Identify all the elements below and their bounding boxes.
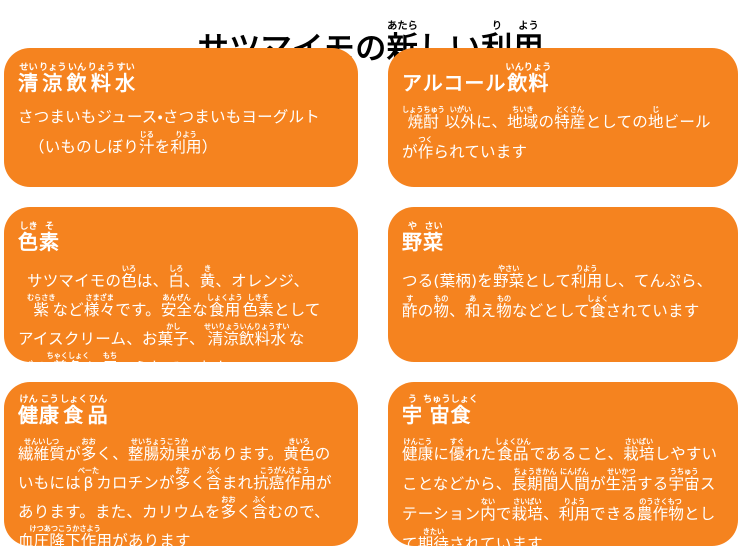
card-body-line: （いものしぼり汁じるを利用りよう）	[18, 130, 348, 160]
card-body-line: どの着色ちゃくしょくに用もちいられています	[18, 351, 348, 362]
card-body-line: テーション内ないで栽培さいばい、利用りようできる農作物のうさくもつとし	[402, 497, 728, 527]
card-body: 焼酎しょうちゅう以外いがいに、地域ちいきの特産とくさんとしての地じビールが作つく…	[402, 105, 728, 165]
card-body-line: が作つくられています	[402, 135, 728, 165]
card-heading: アルコール飲料いんりょう	[402, 62, 728, 96]
card-kenkou-shokuhin: 健けん康こう食しょく品ひん 繊維質せんいしつが多おおく、整腸効果せいちょうこうか…	[4, 382, 358, 546]
card-body-line: 繊維質せんいしつが多おおく、整腸効果せいちょうこうかがあります。黄色きいろの	[18, 437, 348, 466]
card-body: 健康けんこうに優すぐれた食品しょくひんであること、栽培さいばいしやすいことなどか…	[402, 437, 728, 546]
card-grid: 清せい涼りょう飲いん料りょう水すい さつまいもジュース・さつまいもヨーグルト（い…	[4, 48, 738, 546]
card-body: 繊維質せんいしつが多おおく、整腸効果せいちょうこうかがあります。黄色きいろのいも…	[18, 437, 348, 546]
card-body: つる(葉柄)を野菜やさいとして利用りようし、てんぷら、酢すの物もの、和あえ物もの…	[402, 264, 728, 324]
card-alcohol-inryou: アルコール飲料いんりょう 焼酎しょうちゅう以外いがいに、地域ちいきの特産とくさん…	[388, 48, 738, 187]
card-heading: 清せい涼りょう飲いん料りょう水すい	[18, 62, 348, 96]
card-shikiso: 色しき素そ サツマイモの色いろは、白しろ、黄き、オレンジ、紫むらさきなど様々さま…	[4, 207, 358, 362]
card-body-line: つる(葉柄)を野菜やさいとして利用りようし、てんぷら、	[402, 264, 728, 294]
card-body-line: ことなどから、長期間ちょうきかん人間にんげんが生活せいかつする宇宙うちゅうス	[402, 467, 728, 497]
card-heading: 健けん康こう食しょく品ひん	[18, 394, 348, 428]
card-body-line: 酢すの物もの、和あえ物ものなどとして食しょくされています	[402, 294, 728, 324]
card-body-line: 血圧降下作用けつあつこうかさようがあります	[18, 524, 348, 546]
card-body: サツマイモの色いろは、白しろ、黄き、オレンジ、紫むらさきなど様々さまざまです。安…	[18, 264, 348, 362]
card-body-line: さつまいもジュース・さつまいもヨーグルト	[18, 105, 348, 130]
card-yasai: 野や菜さい つる(葉柄)を野菜やさいとして利用りようし、てんぷら、酢すの物もの、…	[388, 207, 738, 362]
card-seiryou-inryousui: 清せい涼りょう飲いん料りょう水すい さつまいもジュース・さつまいもヨーグルト（い…	[4, 48, 358, 187]
card-heading: 野や菜さい	[402, 221, 728, 255]
card-heading: 色しき素そ	[18, 221, 348, 255]
card-heading: 宇う宙食ちゅうしょく	[402, 394, 728, 428]
card-body-line: アイスクリーム、お菓子かし、清涼飲料水せいりょういんりょうすいな	[18, 322, 348, 351]
card-body: さつまいもジュース・さつまいもヨーグルト（いものしぼり汁じるを利用りよう）	[18, 105, 348, 160]
card-body-line: て期待きたいされています	[402, 527, 728, 546]
card-body-line: あります。また、カリウムを多おおく含ふくむので、	[18, 495, 348, 524]
card-body-line: いもにはβべーたカロチンが多おおく含ふくまれ抗癌作用こうがんさようが	[18, 466, 348, 495]
card-uchuushoku: 宇う宙食ちゅうしょく 健康けんこうに優すぐれた食品しょくひんであること、栽培さい…	[388, 382, 738, 546]
card-body-line: 紫むらさきなど様々さまざまです。安全あんぜんな食用しょくよう色素しきそとして	[18, 293, 348, 322]
card-body-line: 焼酎しょうちゅう以外いがいに、地域ちいきの特産とくさんとしての地じビール	[402, 105, 728, 135]
card-body-line: サツマイモの色いろは、白しろ、黄き、オレンジ、	[18, 264, 348, 293]
card-body-line: 健康けんこうに優すぐれた食品しょくひんであること、栽培さいばいしやすい	[402, 437, 728, 467]
